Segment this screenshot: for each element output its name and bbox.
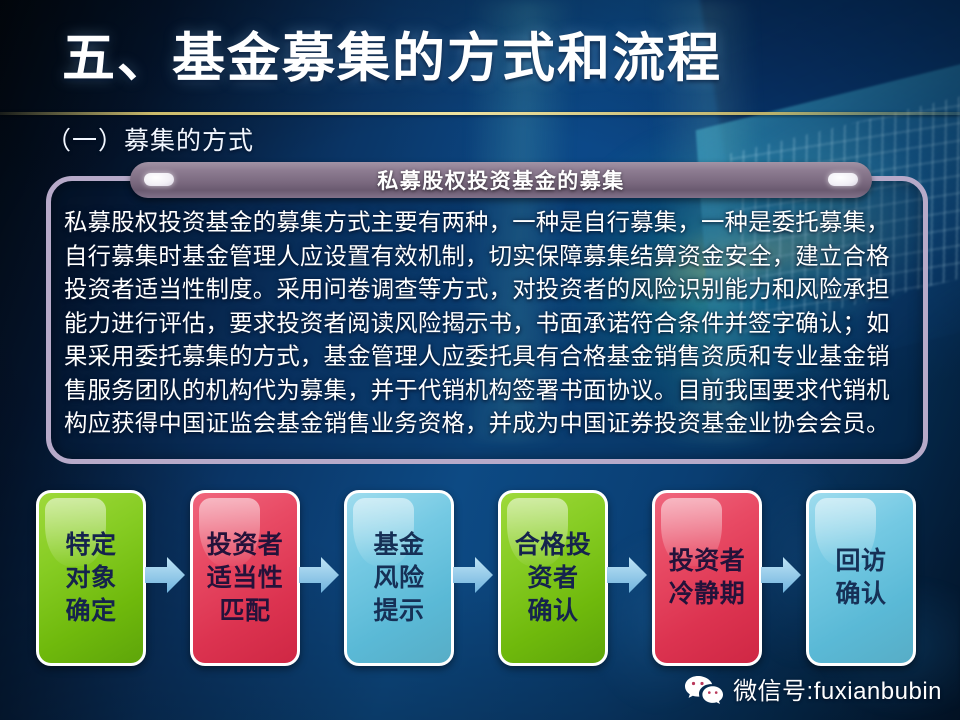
flow-node-2[interactable]: 投资者 适当性 匹配 [190, 490, 300, 666]
flow-node-4[interactable]: 合格投 资者 确认 [498, 490, 608, 666]
flow-node-3[interactable]: 基金 风险 提示 [344, 490, 454, 666]
slide-root: 五、基金募集的方式和流程 （一）募集的方式 私募股权投资基金的募集 私募股权投资… [0, 0, 960, 720]
panel-body-text: 私募股权投资基金的募集方式主要有两种，一种是自行募集，一种是委托募集，自行募集时… [64, 206, 909, 441]
body-paragraph: 私募股权投资基金的募集方式主要有两种，一种是自行募集，一种是委托募集，自行募集时… [64, 206, 909, 441]
section-subtitle: （一）募集的方式 [46, 121, 254, 157]
flow-arrow-3-icon [451, 553, 495, 597]
header-dot-right-icon [828, 173, 858, 186]
page-title: 五、基金募集的方式和流程 [62, 31, 722, 87]
flow-node-5-label: 投资者 冷静期 [669, 545, 746, 611]
title-divider-rule [0, 112, 960, 115]
flow-node-6-label: 回访 确认 [835, 545, 886, 611]
flow-arrow-4-icon [605, 553, 649, 597]
panel-header-bar: 私募股权投资基金的募集 [130, 162, 872, 198]
flow-node-2-label: 投资者 适当性 匹配 [207, 529, 284, 628]
flow-node-3-label: 基金 风险 提示 [373, 529, 424, 628]
header-dot-left-icon [144, 173, 174, 186]
flow-node-5[interactable]: 投资者 冷静期 [652, 490, 762, 666]
flow-arrow-1-icon [143, 553, 187, 597]
process-flow-diagram: 特定 对象 确定 投资者 适当性 匹配 基金 风险 提示 合格投 资者 确认 [0, 490, 960, 666]
watermark: 微信号:fuxianbubin [683, 671, 942, 706]
flow-arrow-2-icon [297, 553, 341, 597]
flow-node-4-label: 合格投 资者 确认 [515, 529, 592, 628]
watermark-text: 微信号:fuxianbubin [733, 671, 942, 706]
panel-header-label: 私募股权投资基金的募集 [377, 165, 625, 195]
flow-node-1-label: 特定 对象 确定 [65, 529, 116, 628]
flow-node-1[interactable]: 特定 对象 确定 [36, 490, 146, 666]
flow-node-6[interactable]: 回访 确认 [806, 490, 916, 666]
wechat-icon [683, 674, 725, 704]
flow-arrow-5-icon [759, 553, 803, 597]
